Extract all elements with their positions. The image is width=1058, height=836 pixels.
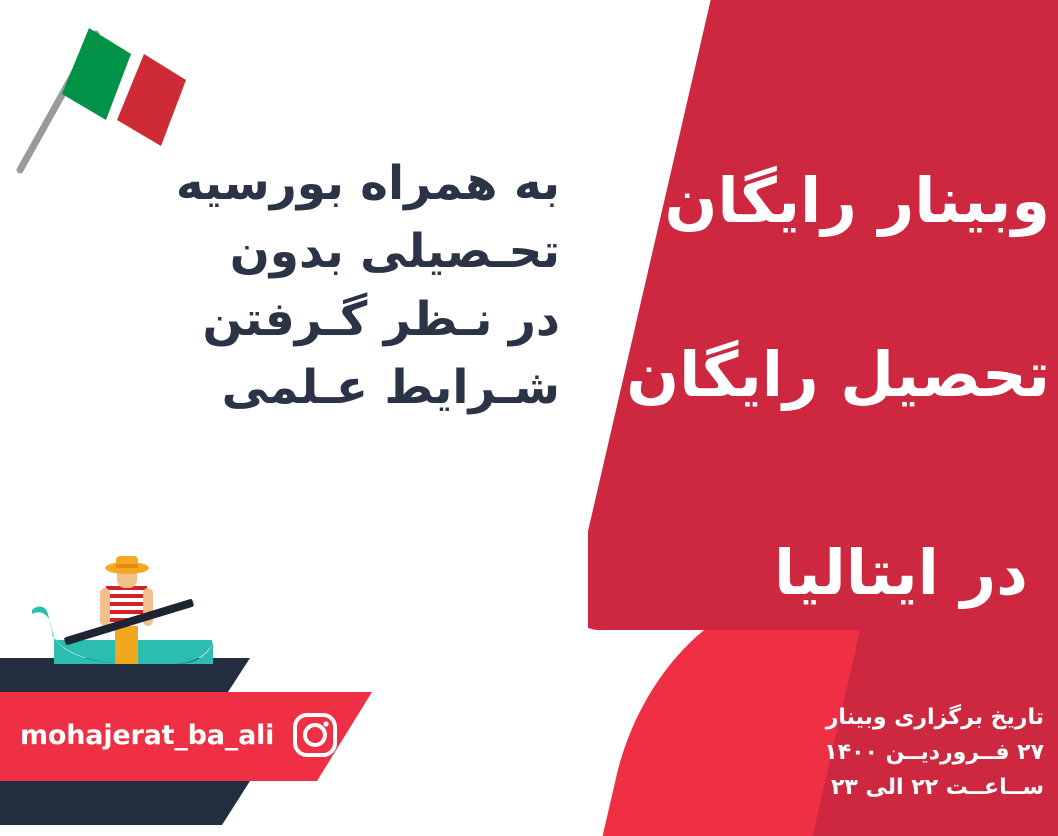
italian-flag-icon [14, 6, 204, 176]
left-copy-line-3: در نـظر گـرفتن [40, 286, 560, 354]
headline-group: وبینار رایگان تحصیل رایگان در ایتالیا [588, 0, 1058, 700]
headline-line-1: وبینار رایگان [665, 168, 1050, 233]
left-copy-line-4: شـرایط عـلمی [40, 354, 560, 422]
left-copy-block: به همراه بورسیه تحـصیلی بدون در نـظر گـر… [40, 150, 560, 423]
left-copy-line-2: تحـصیلی بدون [40, 218, 560, 286]
schedule-time: ســاعــت ۲۲ الی ۲۳ [824, 770, 1044, 805]
schedule-block: تاریخ برگزاری وبینار ۲۷ فــروردیــن ۱۴۰۰… [824, 700, 1044, 806]
headline-line-3: در ایتالیا [774, 540, 1028, 605]
gondola-illustration [14, 552, 229, 677]
schedule-date: ۲۷ فــروردیــن ۱۴۰۰ [824, 735, 1044, 770]
schedule-label: تاریخ برگزاری وبینار [824, 700, 1044, 735]
instagram-row[interactable]: mohajerat_ba_ali [20, 712, 338, 758]
poster-canvas: وبینار رایگان تحصیل رایگان در ایتالیا تا… [0, 0, 1058, 836]
navy-band-bottom [0, 781, 250, 825]
headline-line-2: تحصیل رایگان [626, 342, 1050, 407]
instagram-icon[interactable] [292, 712, 338, 758]
instagram-handle[interactable]: mohajerat_ba_ali [20, 720, 274, 751]
